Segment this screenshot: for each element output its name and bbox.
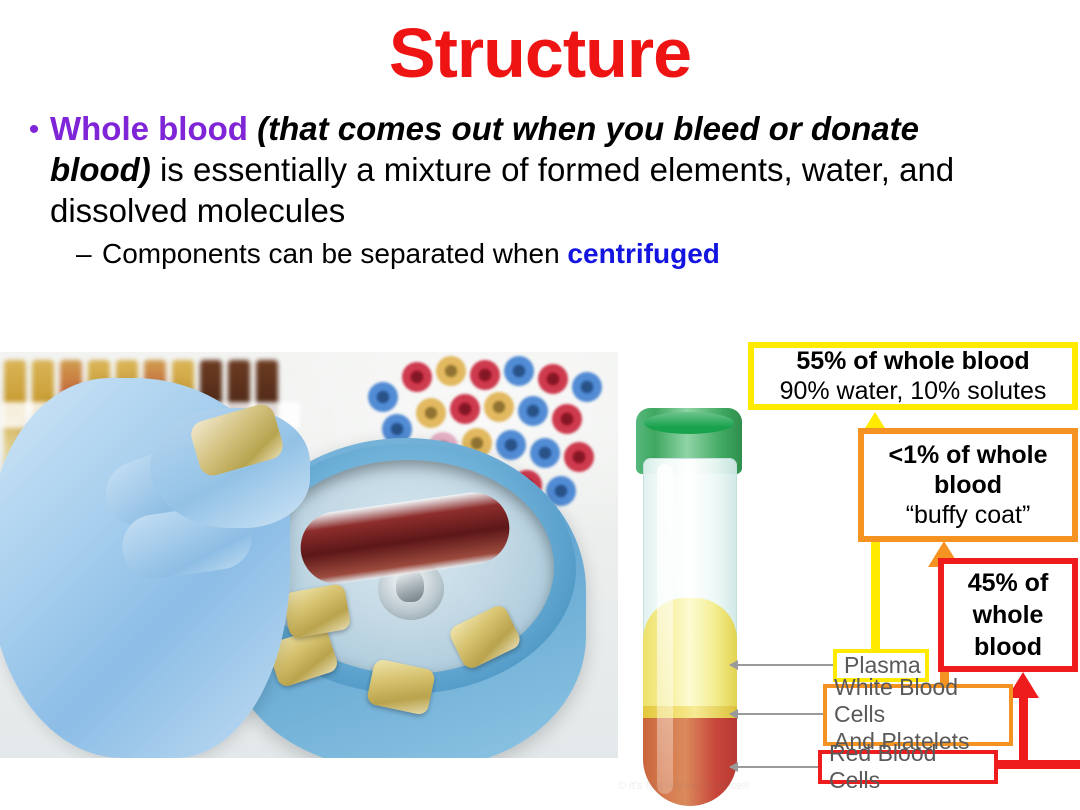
bullet-text: Whole blood (that comes out when you ble… bbox=[50, 108, 1028, 231]
page-title: Structure bbox=[0, 14, 1080, 92]
component-label-red-blood-cells: Red Blood Cells bbox=[818, 750, 998, 784]
sub-bullet-text: Components can be separated when centrif… bbox=[102, 237, 1028, 271]
callout-plasma-line2: 90% water, 10% solutes bbox=[780, 376, 1047, 406]
sub-bullet-item-components: – Components can be separated when centr… bbox=[76, 237, 1028, 271]
tube-layer-plasma bbox=[643, 598, 737, 710]
component-label-wbc-line1: White Blood Cells bbox=[834, 674, 1003, 728]
bullet-marker-icon: • bbox=[18, 108, 50, 150]
callout-rbc-line3: blood bbox=[974, 631, 1042, 663]
centrifuged-blood-tube-diagram: © It's Not Rocket Science® bbox=[634, 408, 754, 804]
bullet-item-whole-blood: • Whole blood (that comes out when you b… bbox=[18, 108, 1028, 231]
leader-line-plasma bbox=[730, 664, 834, 666]
tube-glass-body bbox=[643, 458, 737, 806]
tube-layer-red-blood-cells bbox=[643, 718, 737, 806]
callout-plasma-percentage: 55% of whole blood 90% water, 10% solute… bbox=[748, 342, 1078, 410]
body-text-block: • Whole blood (that comes out when you b… bbox=[18, 108, 1028, 271]
bullet-rest: is essentially a mixture of formed eleme… bbox=[50, 151, 954, 229]
leader-line-wbc bbox=[730, 713, 824, 715]
centrifuge-photo: © It's Not Rocket Science® bbox=[0, 352, 618, 758]
bullet-lead-bold: Whole blood bbox=[50, 110, 248, 147]
leader-line-rbc bbox=[730, 766, 819, 768]
arrow-rbc-horizontal-shaft bbox=[995, 760, 1080, 769]
callout-buffy-line3: “buffy coat” bbox=[906, 500, 1031, 530]
callout-rbc-percentage: 45% of whole blood bbox=[938, 558, 1078, 672]
callout-buffy-line1: <1% of whole bbox=[888, 440, 1047, 470]
arrow-rbc-vertical-shaft bbox=[1019, 692, 1028, 768]
sub-bullet-text-before: Components can be separated when bbox=[102, 238, 567, 269]
component-label-rbc-text: Red Blood Cells bbox=[829, 740, 988, 794]
component-label-white-blood-cells: White Blood Cells And Platelets bbox=[823, 684, 1013, 746]
callout-buffy-line2: blood bbox=[934, 470, 1002, 500]
callout-rbc-line1: 45% of bbox=[968, 567, 1049, 599]
callout-rbc-line2: whole bbox=[973, 599, 1044, 631]
sub-bullet-highlight: centrifuged bbox=[567, 238, 719, 269]
callout-buffy-coat-percentage: <1% of whole blood “buffy coat” bbox=[858, 428, 1078, 542]
sub-bullet-marker-icon: – bbox=[76, 237, 102, 271]
callout-plasma-line1: 55% of whole blood bbox=[796, 347, 1029, 376]
